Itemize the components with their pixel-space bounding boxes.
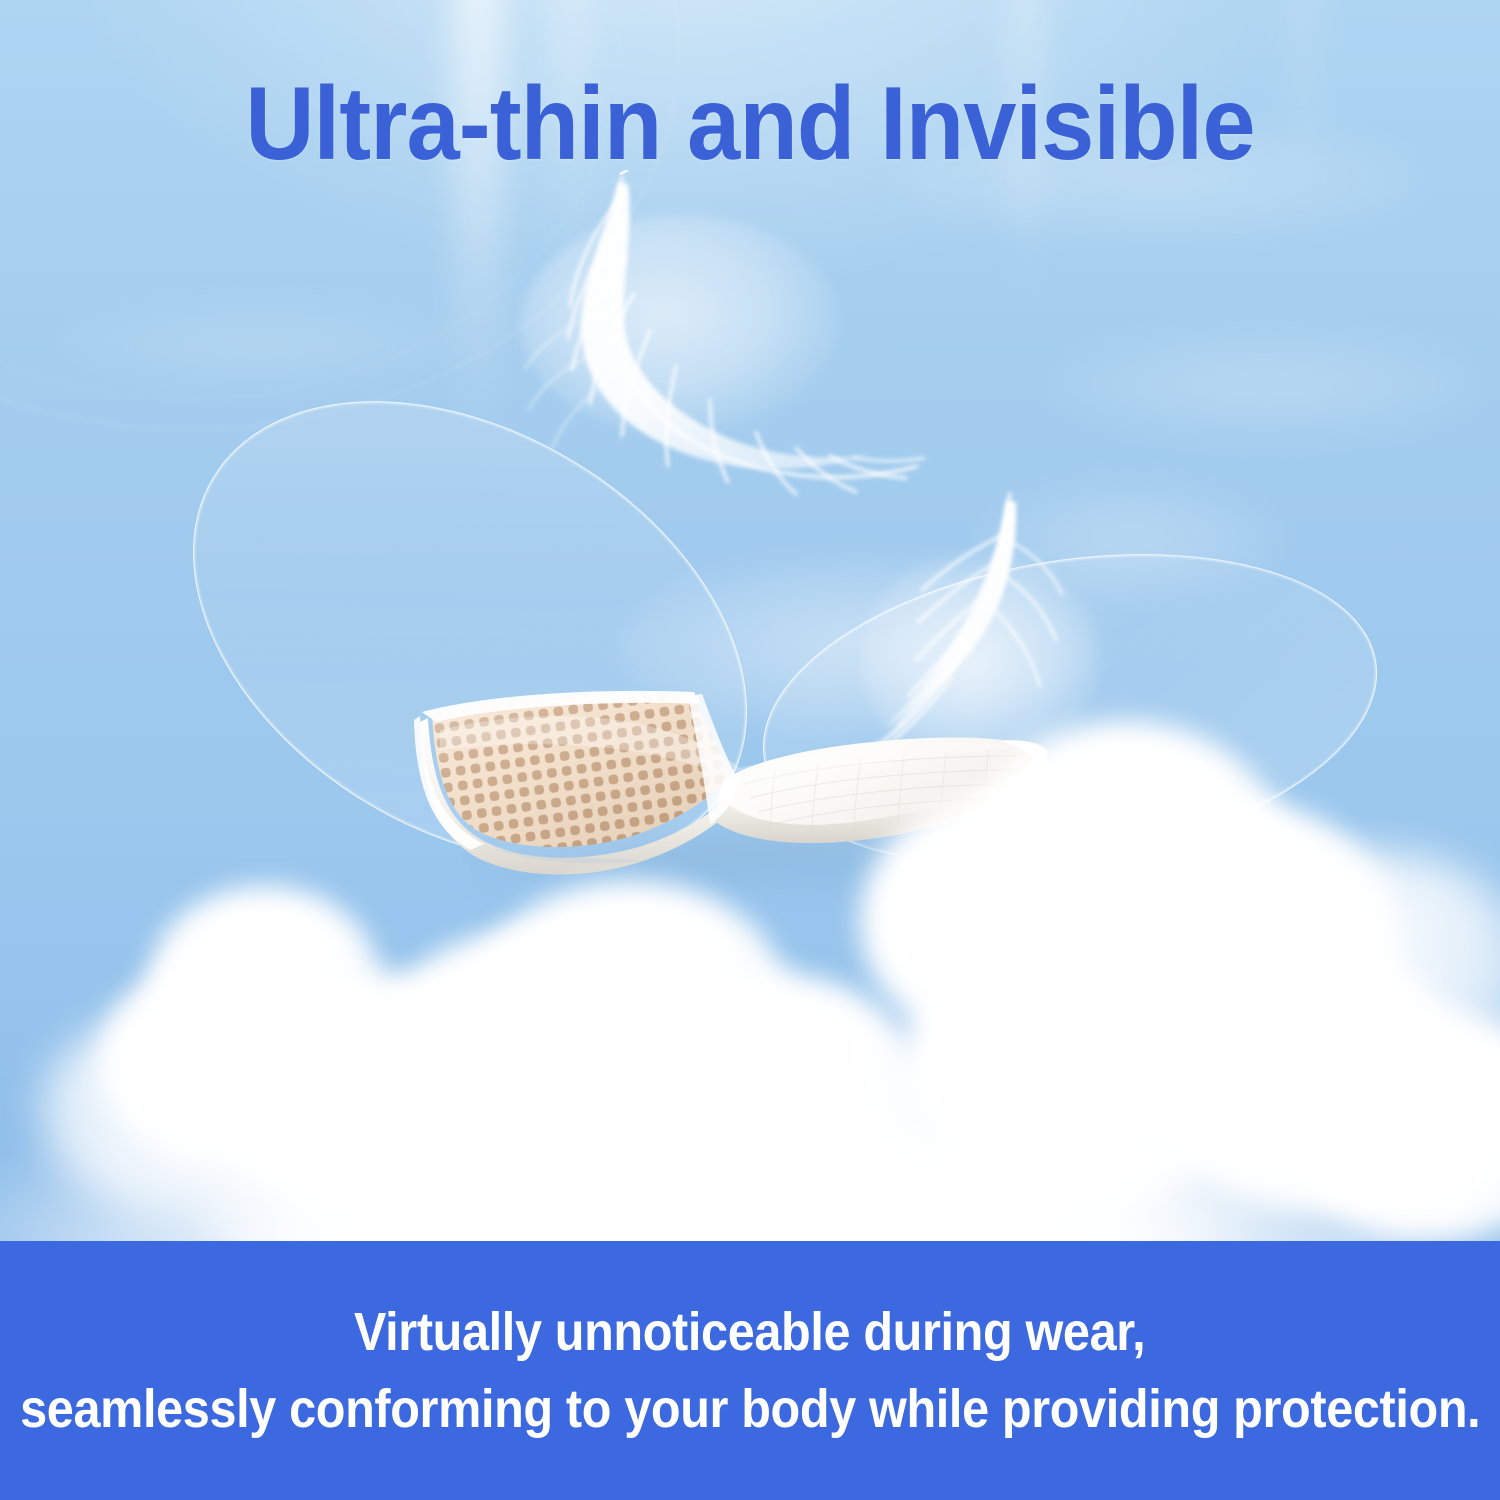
caption-line-2: seamlessly conforming to your body while… [20, 1371, 1480, 1448]
cloud-puff [1230, 851, 1500, 1091]
caption-banner: Virtually unnoticeable during wear, seam… [0, 1241, 1500, 1500]
sky-scene [0, 0, 1500, 1241]
caption-line-1: Virtually unnoticeable during wear, [354, 1294, 1145, 1371]
cloud-base [0, 1001, 1500, 1241]
product-marketing-poster: Ultra-thin and Invisible Virtually unnot… [0, 0, 1500, 1500]
cloud-wisp [1050, 330, 1480, 440]
cloud-puff [700, 1131, 1260, 1241]
cloud-puff [400, 1011, 760, 1241]
cloud-puff [1080, 801, 1400, 1081]
feather-upper-icon [510, 170, 930, 500]
cloud-puff [150, 886, 380, 1076]
cloud-puff [1140, 941, 1470, 1211]
cloud-puff [470, 881, 790, 1131]
cloud-puff [900, 931, 1260, 1211]
cloud-puff [1280, 1011, 1500, 1241]
pad-illustration [410, 672, 1090, 887]
cloud-puff [215, 971, 515, 1221]
cloud-wisp [60, 300, 460, 390]
cloud-puff [380, 931, 670, 1151]
product-pad [410, 672, 1090, 887]
cloud-puff [600, 971, 930, 1231]
cloud-puff [100, 951, 380, 1171]
cloud-puff [40, 1011, 320, 1211]
cloud-puff [200, 1111, 700, 1241]
page-title: Ultra-thin and Invisible [60, 72, 1440, 176]
cloud-puff [540, 1081, 960, 1241]
